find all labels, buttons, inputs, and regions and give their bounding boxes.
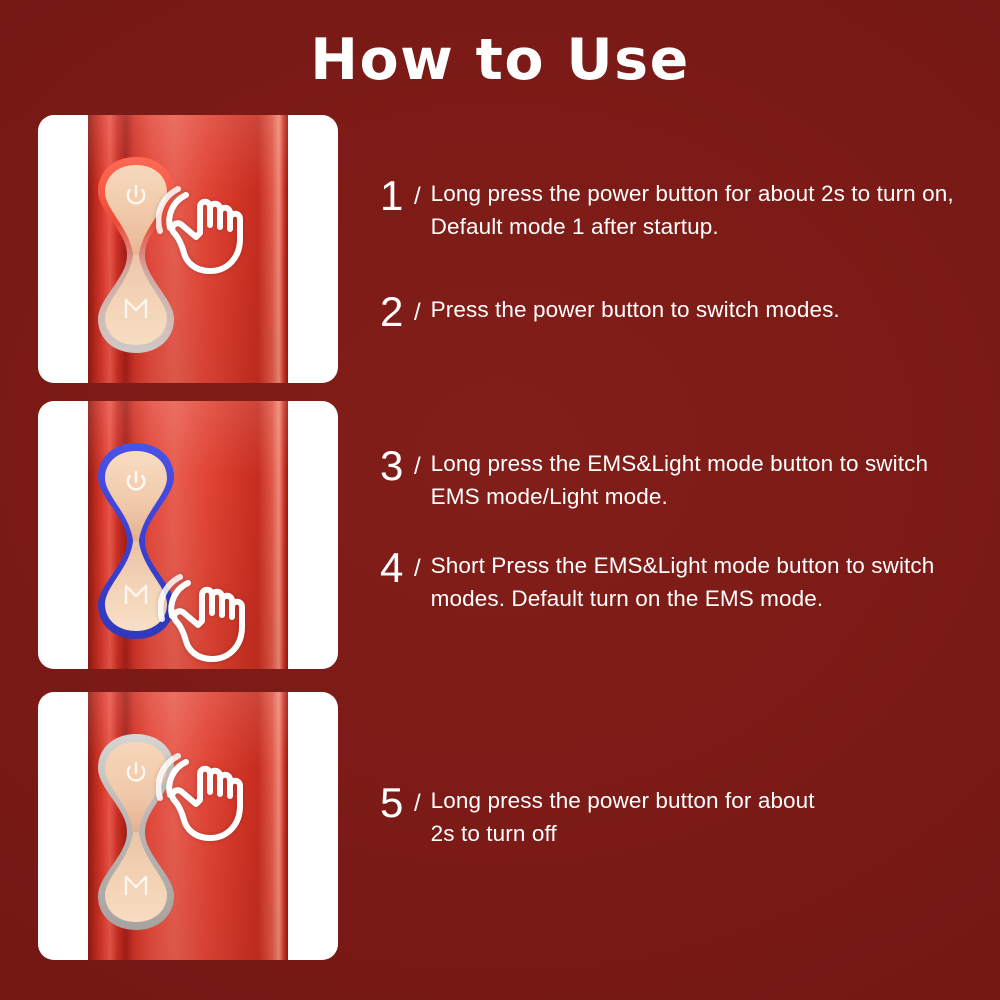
step-text: Long press the power button for about 2s… <box>431 784 831 850</box>
step-item: 2 / Press the power button to switch mod… <box>380 293 840 333</box>
step-item: 1 / Long press the power button for abou… <box>380 177 976 243</box>
step-row-3: 5 / Long press the power button for abou… <box>0 692 1000 960</box>
step-number: 3 <box>380 447 410 485</box>
m-mode-icon[interactable] <box>121 581 151 607</box>
tap-hand-icon <box>156 173 276 291</box>
step-row-1: 1 / Long press the power button for abou… <box>0 115 1000 383</box>
m-mode-icon[interactable] <box>121 295 151 321</box>
step-separator: / <box>414 177 421 217</box>
step-number: 1 <box>380 177 410 215</box>
tap-hand-icon <box>158 561 278 669</box>
step-text: Long press the power button for about 2s… <box>431 177 976 243</box>
power-icon[interactable] <box>121 181 151 211</box>
step-item: 3 / Long press the EMS&Light mode button… <box>380 447 976 513</box>
power-icon[interactable] <box>121 467 151 497</box>
step-number: 4 <box>380 549 410 587</box>
step-item: 4 / Short Press the EMS&Light mode butto… <box>380 549 976 615</box>
step-number: 2 <box>380 293 410 331</box>
tap-hand-icon <box>156 740 276 858</box>
step-text: Short Press the EMS&Light mode button to… <box>431 549 976 615</box>
product-photo-power-on <box>38 115 338 383</box>
step-item: 5 / Long press the power button for abou… <box>380 784 831 850</box>
product-photo-power-off <box>38 692 338 960</box>
step-text: Long press the EMS&Light mode button to … <box>431 447 976 513</box>
step-separator: / <box>414 447 421 487</box>
step-separator: / <box>414 293 421 333</box>
step-number: 5 <box>380 784 410 822</box>
power-icon[interactable] <box>121 758 151 788</box>
how-to-use-infographic: How to Use <box>0 0 1000 1000</box>
step-separator: / <box>414 784 421 824</box>
m-mode-icon[interactable] <box>121 872 151 898</box>
step-text: Press the power button to switch modes. <box>431 293 840 326</box>
page-title: How to Use <box>0 32 1000 89</box>
step-separator: / <box>414 549 421 589</box>
product-photo-ems-light <box>38 401 338 669</box>
step-row-2: 3 / Long press the EMS&Light mode button… <box>0 401 1000 669</box>
